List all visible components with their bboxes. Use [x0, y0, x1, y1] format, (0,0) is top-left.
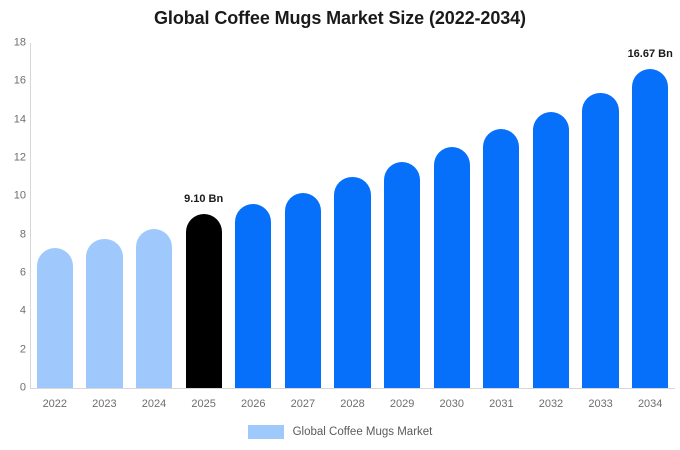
x-axis-tick-2025: 2025 — [179, 395, 229, 413]
bar-2028[interactable] — [334, 177, 370, 388]
bar-2033[interactable] — [582, 93, 618, 388]
bar-value-label-2025: 9.10 Bn — [184, 194, 223, 205]
plot-area: 9.10 Bn16.67 Bn — [30, 43, 675, 388]
bar-2034[interactable] — [632, 69, 668, 389]
x-axis-tick-2034: 2034 — [625, 395, 675, 413]
y-axis-tick: 18 — [2, 38, 26, 49]
x-axis-tick-2033: 2033 — [576, 395, 626, 413]
legend-swatch-icon — [248, 425, 284, 439]
x-axis-tick-2028: 2028 — [328, 395, 378, 413]
x-axis-tick-2022: 2022 — [30, 395, 80, 413]
bar-2029[interactable] — [384, 162, 420, 388]
bar-2025[interactable] — [186, 214, 222, 388]
bar-2024[interactable] — [136, 229, 172, 388]
bar-slot — [582, 43, 618, 388]
bar-slot — [136, 43, 172, 388]
y-axis-tick: 12 — [2, 153, 26, 164]
chart-container: Global Coffee Mugs Market Size (2022-203… — [0, 0, 680, 450]
bar-slot — [384, 43, 420, 388]
x-axis-line — [30, 388, 675, 389]
x-axis-tick-2030: 2030 — [427, 395, 477, 413]
bars-layer: 9.10 Bn16.67 Bn — [30, 43, 675, 388]
legend-label: Global Coffee Mugs Market — [293, 426, 433, 438]
bar-slot — [334, 43, 370, 388]
bar-slot — [235, 43, 271, 388]
bar-2032[interactable] — [533, 112, 569, 388]
x-axis-tick-2026: 2026 — [228, 395, 278, 413]
y-axis-tick: 6 — [2, 268, 26, 279]
y-axis-tick: 0 — [2, 383, 26, 394]
bar-2022[interactable] — [37, 248, 73, 388]
x-axis-tick-labels: 2022202320242025202620272028202920302031… — [30, 395, 675, 415]
bar-2031[interactable] — [483, 129, 519, 388]
bar-2023[interactable] — [86, 239, 122, 389]
x-axis-tick-2032: 2032 — [526, 395, 576, 413]
y-axis-tick-labels: 181614121086420 — [0, 0, 26, 450]
bar-slot — [434, 43, 470, 388]
x-axis-tick-2027: 2027 — [278, 395, 328, 413]
y-axis-tick: 4 — [2, 306, 26, 317]
bar-value-label-2034: 16.67 Bn — [628, 49, 673, 60]
chart-title: Global Coffee Mugs Market Size (2022-203… — [0, 8, 680, 29]
chart-legend: Global Coffee Mugs Market — [0, 425, 680, 439]
x-axis-tick-2029: 2029 — [377, 395, 427, 413]
y-axis-tick: 2 — [2, 344, 26, 355]
bar-slot: 9.10 Bn — [186, 43, 222, 388]
bar-2026[interactable] — [235, 204, 271, 388]
x-axis-tick-2024: 2024 — [129, 395, 179, 413]
bar-slot — [533, 43, 569, 388]
y-axis-tick: 10 — [2, 191, 26, 202]
bar-2027[interactable] — [285, 193, 321, 389]
y-axis-tick: 14 — [2, 114, 26, 125]
x-axis-tick-2031: 2031 — [477, 395, 527, 413]
y-axis-tick: 16 — [2, 76, 26, 87]
bar-slot — [483, 43, 519, 388]
x-axis-tick-2023: 2023 — [80, 395, 130, 413]
bar-2030[interactable] — [434, 147, 470, 389]
y-axis-tick: 8 — [2, 229, 26, 240]
bar-slot: 16.67 Bn — [632, 43, 668, 388]
bar-slot — [86, 43, 122, 388]
bar-slot — [285, 43, 321, 388]
bar-slot — [37, 43, 73, 388]
